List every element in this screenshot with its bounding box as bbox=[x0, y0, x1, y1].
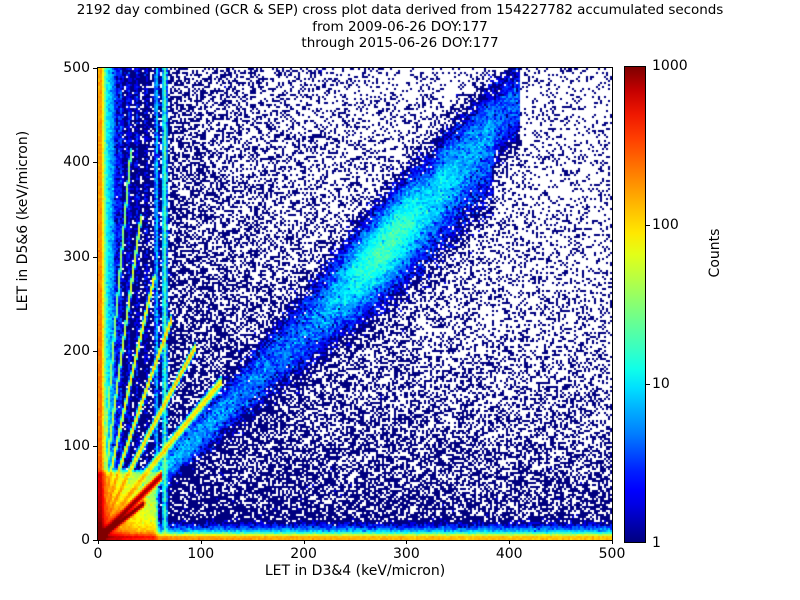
colorbar-tick bbox=[645, 225, 650, 226]
x-tick-label: 500 bbox=[599, 547, 626, 561]
y-tick-label: 300 bbox=[63, 250, 90, 264]
colorbar-label: Counts bbox=[707, 193, 723, 313]
x-tick-label: 400 bbox=[496, 547, 523, 561]
colorbar-tick-label: 1 bbox=[652, 536, 661, 550]
y-tick bbox=[93, 257, 97, 258]
x-tick-label: 300 bbox=[393, 547, 420, 561]
colorbar-tick-label: 10 bbox=[652, 377, 670, 391]
colorbar-tick-label: 1000 bbox=[652, 59, 688, 73]
y-tick bbox=[93, 351, 97, 352]
y-tick bbox=[93, 162, 97, 163]
chart-title-line-2: from 2009-06-26 DOY:177 bbox=[0, 19, 800, 36]
colorbar-tick-label: 100 bbox=[652, 218, 679, 232]
colorbar bbox=[624, 66, 646, 543]
x-axis-label: LET in D3&4 (keV/micron) bbox=[97, 563, 613, 579]
plot-area bbox=[97, 67, 613, 541]
chart-title: 2192 day combined (GCR & SEP) cross plot… bbox=[0, 2, 800, 52]
y-tick bbox=[93, 540, 97, 541]
x-tick bbox=[406, 540, 407, 544]
x-tick-label: 100 bbox=[187, 547, 214, 561]
x-tick bbox=[612, 540, 613, 544]
x-tick bbox=[509, 540, 510, 544]
y-tick-label: 400 bbox=[63, 155, 90, 169]
x-tick bbox=[98, 540, 99, 544]
colorbar-tick bbox=[645, 384, 650, 385]
x-tick bbox=[201, 540, 202, 544]
y-tick-label: 500 bbox=[63, 61, 90, 75]
figure-canvas: 2192 day combined (GCR & SEP) cross plot… bbox=[0, 0, 800, 600]
chart-title-line-3: through 2015-06-26 DOY:177 bbox=[0, 35, 800, 52]
y-tick bbox=[93, 446, 97, 447]
y-axis-label: LET in D5&6 (keV/micron) bbox=[15, 130, 31, 312]
density-heatmap bbox=[98, 68, 612, 540]
y-tick bbox=[93, 68, 97, 69]
x-tick-label: 0 bbox=[94, 547, 103, 561]
y-tick-label: 100 bbox=[63, 439, 90, 453]
x-tick-label: 200 bbox=[290, 547, 317, 561]
x-tick bbox=[304, 540, 305, 544]
chart-title-line-1: 2192 day combined (GCR & SEP) cross plot… bbox=[0, 2, 800, 19]
y-tick-label: 200 bbox=[63, 344, 90, 358]
y-tick-label: 0 bbox=[81, 533, 90, 547]
